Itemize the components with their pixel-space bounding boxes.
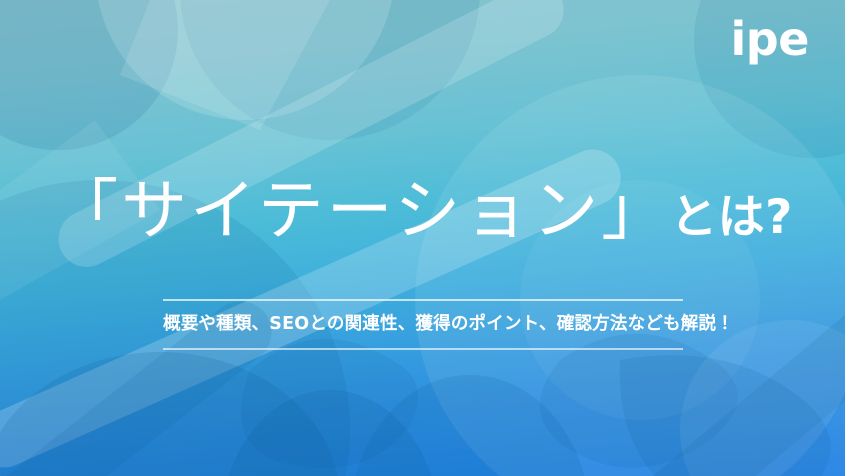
- subtitle-text: 概要や種類、SEOとの関連性、獲得のポイント、確認方法なども解説！: [163, 301, 683, 348]
- subtitle-block: 概要や種類、SEOとの関連性、獲得のポイント、確認方法なども解説！: [163, 299, 683, 350]
- banner-content: ipe 「サイテーション」とは? 概要や種類、SEOとの関連性、獲得のポイント、…: [0, 0, 845, 476]
- page-title-suffix: とは?: [670, 190, 793, 245]
- page-title-main: 「サイテーション」: [52, 172, 670, 249]
- article-hero-banner: ipe 「サイテーション」とは? 概要や種類、SEOとの関連性、獲得のポイント、…: [0, 0, 845, 476]
- page-title: 「サイテーション」とは?: [0, 178, 845, 244]
- ipe-logo[interactable]: ipe: [730, 16, 809, 62]
- divider-bottom: [163, 348, 683, 350]
